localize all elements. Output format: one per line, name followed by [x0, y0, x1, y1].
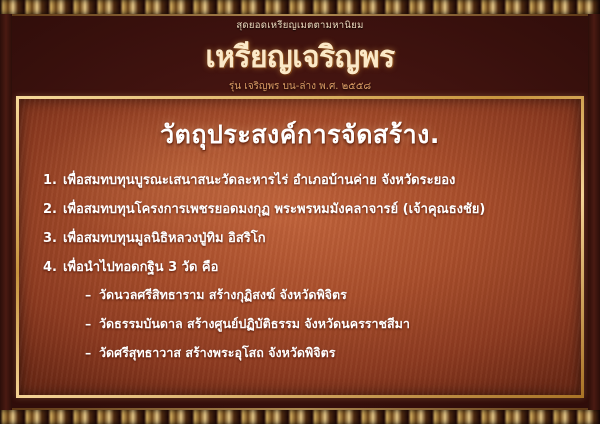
- ornamental-border-bottom-edge: [0, 408, 600, 410]
- panel-title: วัตถุประสงค์การจัดสร้าง.: [33, 115, 567, 155]
- objectives-list: 1. เพื่อสมทบทุนบูรณะเสนาสนะวัดละหารไร่ อ…: [33, 169, 567, 277]
- list-item-text: วัดศรีสุทธาวาส สร้างพระอุโสถ จังหวัดพิจิ…: [99, 343, 567, 363]
- list-item: 1. เพื่อสมทบทุนบูรณะเสนาสนะวัดละหารไร่ อ…: [43, 169, 567, 190]
- header-title: เหรียญเจริญพร: [12, 34, 588, 81]
- list-item: 3. เพื่อสมทบทุนมูลนิธิหลวงปู่ทิม อิสริโก: [43, 227, 567, 248]
- list-item-number: 3.: [43, 231, 63, 246]
- list-item-text: เพื่อสมทบทุนบูรณะเสนาสนะวัดละหารไร่ อำเภ…: [63, 169, 567, 190]
- ornamental-border-top: [0, 0, 600, 14]
- list-item-text: วัดนวลศรีสิทธาราม สร้างกุฏิสงฆ์ จังหวัดพ…: [99, 285, 567, 305]
- list-item-number: 1.: [43, 173, 63, 188]
- list-item: 2. เพื่อสมทบทุนโครงการเพชรยอดมงกุฏ พระพร…: [43, 198, 567, 219]
- list-item-text: วัดธรรมบันดาล สร้างศูนย์ปฏิบัติธรรม จังห…: [99, 314, 567, 334]
- list-item-text: เพื่อสมทบทุนมูลนิธิหลวงปู่ทิม อิสริโก: [63, 227, 567, 248]
- content-panel: วัตถุประสงค์การจัดสร้าง. 1. เพื่อสมทบทุน…: [16, 96, 584, 398]
- amulet-poster: สุดยอดเหรียญเมตตามหานิยม เหรียญเจริญพร ร…: [0, 0, 600, 424]
- ornamental-border-left: [0, 14, 12, 410]
- list-item: – วัดศรีสุทธาวาส สร้างพระอุโสถ จังหวัดพิ…: [85, 343, 567, 363]
- list-item: 4. เพื่อนำไปทอดกฐิน 3 วัด คือ: [43, 256, 567, 277]
- list-item-number: 4.: [43, 260, 63, 275]
- list-item: – วัดนวลศรีสิทธาราม สร้างกุฏิสงฆ์ จังหวั…: [85, 285, 567, 305]
- bullet-dash-icon: –: [85, 287, 99, 302]
- temple-sublist: – วัดนวลศรีสิทธาราม สร้างกุฏิสงฆ์ จังหวั…: [33, 285, 567, 363]
- list-item-number: 2.: [43, 202, 63, 217]
- bullet-dash-icon: –: [85, 345, 99, 360]
- list-item-text: เพื่อนำไปทอดกฐิน 3 วัด คือ: [63, 256, 567, 277]
- ornamental-border-bottom: [0, 410, 600, 424]
- bullet-dash-icon: –: [85, 316, 99, 331]
- ornamental-border-right: [588, 14, 600, 410]
- header-kicker: สุดยอดเหรียญเมตตามหานิยม: [12, 18, 588, 33]
- header-subtitle: รุ่น เจริญพร บน-ล่าง พ.ศ. ๒๕๕๘: [12, 79, 588, 94]
- list-item: – วัดธรรมบันดาล สร้างศูนย์ปฏิบัติธรรม จั…: [85, 314, 567, 334]
- poster-header: สุดยอดเหรียญเมตตามหานิยม เหรียญเจริญพร ร…: [12, 16, 588, 96]
- list-item-text: เพื่อสมทบทุนโครงการเพชรยอดมงกุฏ พระพรหมม…: [63, 198, 567, 219]
